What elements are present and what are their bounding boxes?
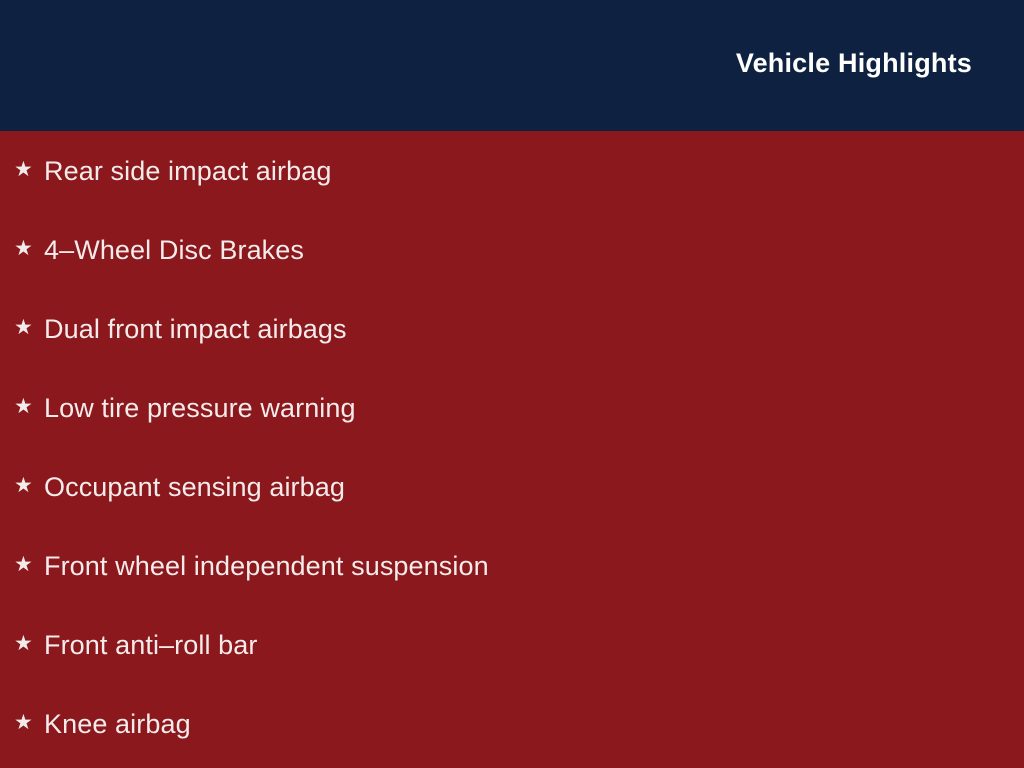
list-item: ★ Front anti–roll bar	[0, 605, 1024, 684]
list-item: ★ Rear side impact airbag	[0, 131, 1024, 210]
page-title: Vehicle Highlights	[736, 46, 972, 80]
list-item: ★ 4–Wheel Disc Brakes	[0, 210, 1024, 289]
star-icon: ★	[14, 712, 44, 733]
list-item: ★ Occupant sensing airbag	[0, 447, 1024, 526]
star-icon: ★	[14, 159, 44, 180]
highlight-label: Front anti–roll bar	[44, 628, 258, 662]
vehicle-highlights-slide: Vehicle Highlights ★ Rear side impact ai…	[0, 0, 1024, 768]
star-icon: ★	[14, 317, 44, 338]
vehicle-highlights-list: ★ Rear side impact airbag ★ 4–Wheel Disc…	[0, 131, 1024, 763]
highlight-label: Rear side impact airbag	[44, 154, 331, 188]
list-item: ★ Front wheel independent suspension	[0, 526, 1024, 605]
star-icon: ★	[14, 475, 44, 496]
highlights-body: ★ Rear side impact airbag ★ 4–Wheel Disc…	[0, 131, 1024, 768]
star-icon: ★	[14, 238, 44, 259]
list-item: ★ Knee airbag	[0, 684, 1024, 763]
slide-header-band: Vehicle Highlights	[0, 0, 1024, 131]
list-item: ★ Low tire pressure warning	[0, 368, 1024, 447]
highlight-label: Low tire pressure warning	[44, 391, 356, 425]
highlight-label: Occupant sensing airbag	[44, 470, 345, 504]
star-icon: ★	[14, 633, 44, 654]
highlight-label: Dual front impact airbags	[44, 312, 347, 346]
star-icon: ★	[14, 396, 44, 417]
star-icon: ★	[14, 554, 44, 575]
highlight-label: 4–Wheel Disc Brakes	[44, 233, 304, 267]
highlight-label: Front wheel independent suspension	[44, 549, 489, 583]
list-item: ★ Dual front impact airbags	[0, 289, 1024, 368]
highlight-label: Knee airbag	[44, 707, 191, 741]
